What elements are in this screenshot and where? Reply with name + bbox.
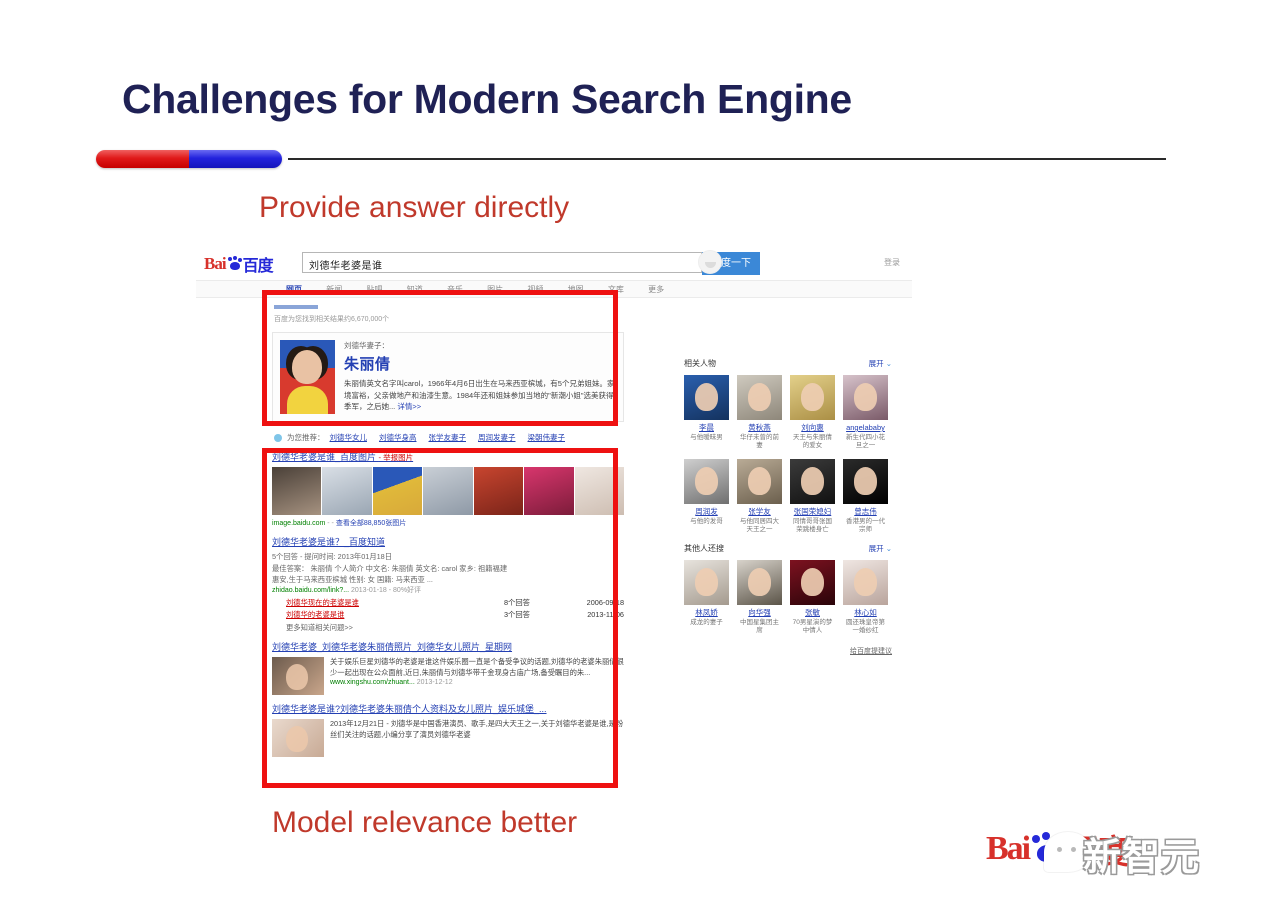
- tab-news[interactable]: 新闻: [326, 281, 342, 298]
- person-card[interactable]: 张国荣媳妇 同情哥哥张国荣跳楼身亡: [790, 459, 835, 535]
- person-card[interactable]: 刘向惠 天王与朱丽倩的爱女: [790, 375, 835, 451]
- person-photo: [684, 459, 729, 504]
- result-title-yule[interactable]: 刘德华老婆是谁?刘德华老婆朱丽倩个人资料及女儿照片_娱乐城堡_...: [272, 704, 624, 716]
- people-row-1: 李晨 与他暧昧男 黄秋燕 华仔未曾的前妻 刘向惠 天王与朱丽倩的爱女 angel…: [684, 375, 892, 451]
- login-link[interactable]: 登录: [884, 257, 900, 268]
- person-name[interactable]: 刘向惠: [790, 423, 835, 432]
- person-name[interactable]: 张敏: [790, 608, 835, 617]
- person-name[interactable]: 曾志伟: [843, 507, 888, 516]
- zhidao-sublink-question-1[interactable]: 刘德华现在的老婆是谁: [272, 598, 504, 608]
- person-name[interactable]: angelababy: [843, 423, 888, 432]
- image-thumb-3[interactable]: [373, 467, 422, 515]
- search-result-yule: 刘德华老婆是谁?刘德华老婆朱丽倩个人资料及女儿照片_娱乐城堡_... 2013年…: [272, 704, 624, 757]
- sidebar-section-header-related-people: 相关人物 展开 ⌄: [684, 358, 892, 369]
- person-photo: [684, 560, 729, 605]
- result-url-images-host[interactable]: image.baidu.com: [272, 520, 325, 527]
- baidu-logo[interactable]: Bai 百度: [204, 254, 294, 274]
- related-search-link-2[interactable]: 刘德华身高: [379, 432, 417, 443]
- person-name[interactable]: 李晨: [684, 423, 729, 432]
- zhidao-best-answer-line1: 最佳答案： 朱丽倩 个人简介 中文名: 朱丽倩 英文名: carol 家乡: 祖…: [272, 563, 624, 574]
- tab-zhidao[interactable]: 知道: [407, 281, 423, 298]
- person-name[interactable]: 张国荣媳妇: [790, 507, 835, 516]
- related-search-link-5[interactable]: 梁朝伟妻子: [528, 432, 566, 443]
- person-card[interactable]: 周润发 与他的发哥: [684, 459, 729, 535]
- tab-more[interactable]: 更多: [648, 281, 664, 298]
- search-result-zhidao: 刘德华老婆是谁？_百度知道 5个回答 - 提问时间: 2013年01月18日 最…: [272, 537, 624, 634]
- person-photo: [737, 459, 782, 504]
- person-photo: [843, 459, 888, 504]
- result-title-images[interactable]: 刘德华老婆是谁_百度图片 - 举报图片: [272, 452, 624, 464]
- zhidao-more-link[interactable]: 更多知道相关问题>>: [272, 623, 624, 633]
- feedback-link[interactable]: 给百度提建议: [684, 646, 892, 656]
- image-results-strip[interactable]: [272, 467, 624, 515]
- answer-label: 刘德华妻子：: [344, 340, 616, 351]
- caption-provide-answer: Provide answer directly: [259, 191, 569, 225]
- result-url-zhidao-host[interactable]: zhidao.baidu.com/link?...: [272, 587, 349, 594]
- related-search-link-4[interactable]: 周润发妻子: [478, 432, 516, 443]
- person-name[interactable]: 林心如: [843, 608, 888, 617]
- sidebar-section-title-1: 相关人物: [684, 358, 716, 369]
- result-body-yule: 2013年12月21日 - 刘德华是中国香港演员、歌手,是四大天王之一,关于刘德…: [272, 719, 624, 757]
- serp-nav-tabs: 网页 新闻 贴吧 知道 音乐 图片 视频 地图 文库 更多: [196, 281, 912, 298]
- zhidao-sublink-count-1: 8个回答: [504, 598, 560, 608]
- result-url-zhidao: zhidao.baidu.com/link?... 2013-01-18 - 8…: [272, 585, 624, 595]
- result-thumbnail-yule: [272, 719, 324, 757]
- person-desc: 圆还珠皇帝第一婚纱红: [843, 619, 888, 636]
- chevron-down-icon: ⌄: [886, 359, 892, 368]
- chevron-down-icon: ⌄: [886, 544, 892, 553]
- tab-webpage[interactable]: 网页: [286, 281, 302, 298]
- answer-more-link[interactable]: 详情>>: [397, 402, 421, 411]
- result-thumbnail-xingshu: [272, 657, 324, 695]
- person-name[interactable]: 林凤娇: [684, 608, 729, 617]
- person-photo: [684, 375, 729, 420]
- answer-name[interactable]: 朱丽倩: [344, 353, 616, 374]
- image-thumb-7[interactable]: [575, 467, 624, 515]
- footer-logo-latin: Bai: [986, 830, 1029, 868]
- person-card[interactable]: 向华强 中国星集团主席: [737, 560, 782, 636]
- result-rating-zhidao: - 80%好评: [389, 587, 421, 594]
- tab-video[interactable]: 视频: [527, 281, 543, 298]
- sidebar-section-title-3: 其他人还搜: [684, 543, 724, 554]
- related-searches-label: 为您推荐：: [287, 432, 325, 443]
- image-thumb-5[interactable]: [474, 467, 523, 515]
- person-desc: 70男星演的梦中情人: [790, 619, 835, 636]
- related-search-link-3[interactable]: 张学友妻子: [429, 432, 467, 443]
- divider-line: [288, 158, 1166, 160]
- zhidao-sublinks: 刘德华现在的老婆是谁 8个回答 2006-09-18 刘德华的老婆是谁 3个回答…: [272, 598, 624, 633]
- search-result-xingshu: 刘德华老婆_刘德华老婆朱丽倩照片_刘德华女儿照片_星期网 关于娱乐巨星刘德华的老…: [272, 642, 624, 695]
- result-title-xingshu[interactable]: 刘德华老婆_刘德华老婆朱丽倩照片_刘德华女儿照片_星期网: [272, 642, 624, 654]
- result-count: 百度为您找到相关结果约6,670,000个: [274, 314, 624, 324]
- result-snippet-yule: 2013年12月21日 - 刘德华是中国香港演员、歌手,是四大天王之一,关于刘德…: [330, 719, 624, 757]
- result-body-xingshu: 关于娱乐巨星刘德华的老婆是谁这件娱乐圈一直是个备受争议的话题,刘德华的老婆朱丽倩…: [272, 657, 624, 695]
- result-date-xingshu: 2013-12-12: [417, 679, 453, 686]
- person-desc: 天王与朱丽倩的爱女: [790, 434, 835, 451]
- related-searches-row: 为您推荐： 刘德华女儿 刘德华身高 张学友妻子 周润发妻子 梁朝伟妻子: [274, 432, 624, 443]
- expand-label-1: 展开: [869, 359, 884, 368]
- expand-toggle-3[interactable]: 展开 ⌄: [869, 543, 892, 554]
- image-thumb-1[interactable]: [272, 467, 321, 515]
- person-photo: [737, 560, 782, 605]
- serp-header: Bai 百度 刘德华老婆是谁 百度一下 登录: [196, 246, 912, 281]
- divider-pill-blue: [189, 150, 282, 168]
- result-title-images-text: 刘德华老婆是谁_百度图片: [272, 452, 376, 462]
- baidu-paw-icon: [227, 256, 242, 272]
- person-name[interactable]: 周润发: [684, 507, 729, 516]
- expand-toggle-1[interactable]: 展开 ⌄: [869, 358, 892, 369]
- answer-description-text: 朱丽倩英文名字叫carol，1966年4月6日出生在马来西亚槟城，有5个兄弟姐妹…: [344, 379, 614, 411]
- person-desc: 中国星集团主席: [737, 619, 782, 636]
- avatar[interactable]: [698, 250, 722, 274]
- search-input-value: 刘德华老婆是谁: [309, 257, 383, 272]
- serp-sidebar: 相关人物 展开 ⌄ 李晨 与他暧昧男 黄秋燕 华仔未曾的前妻: [684, 358, 892, 656]
- image-thumb-4[interactable]: [423, 467, 472, 515]
- image-thumb-2[interactable]: [322, 467, 371, 515]
- tab-map[interactable]: 地图: [568, 281, 584, 298]
- person-photo: [790, 560, 835, 605]
- person-desc: 新生代四小花旦之一: [843, 434, 888, 451]
- answer-text-block: 刘德华妻子： 朱丽倩 朱丽倩英文名字叫carol，1966年4月6日出生在马来西…: [344, 340, 616, 414]
- tab-music[interactable]: 音乐: [447, 281, 463, 298]
- person-desc: 华仔未曾的前妻: [737, 434, 782, 451]
- tab-wenku[interactable]: 文库: [608, 281, 624, 298]
- zhidao-best-answer-line2: 惠安,生于马来西亚槟城 性别: 女 国籍: 马来西亚 ...: [272, 574, 624, 585]
- zhidao-sublink-row: 刘德华现在的老婆是谁 8个回答 2006-09-18: [272, 598, 624, 608]
- person-desc: 与他同居四大天王之一: [737, 518, 782, 535]
- person-desc: 香港男的一代宗师: [843, 518, 888, 535]
- report-image-link[interactable]: - 举报图片: [379, 453, 414, 462]
- result-date-zhidao: 2013-01-18: [351, 587, 387, 594]
- result-url-xingshu-host[interactable]: www.xingshu.com/zhuant...: [330, 679, 415, 686]
- caption-model-relevance: Model relevance better: [272, 806, 577, 840]
- tab-tieba[interactable]: 贴吧: [366, 281, 382, 298]
- expand-label-3: 展开: [869, 544, 884, 553]
- person-card[interactable]: 张敏 70男星演的梦中情人: [790, 560, 835, 636]
- people-row-3: 林凤娇 成龙的妻子 向华强 中国星集团主席 张敏 70男星演的梦中情人 林心如 …: [684, 560, 892, 636]
- search-result-images: 刘德华老婆是谁_百度图片 - 举报图片 image.baidu.com - - …: [272, 452, 624, 528]
- zhidao-sublink-count-2: 3个回答: [504, 610, 560, 620]
- person-photo: [843, 375, 888, 420]
- view-all-images-link[interactable]: 查看全部88,850张图片: [336, 520, 406, 527]
- zhidao-sublink-date-2: 2013-11-06: [560, 610, 624, 619]
- baidu-serp-screenshot: Bai 百度 刘德华老婆是谁 百度一下 登录 网页 新闻 贴吧 知道 音乐 图片…: [196, 246, 912, 806]
- serp-results-column: 百度为您找到相关结果约6,670,000个 刘德华妻子： 朱丽倩 朱丽倩英文名字…: [272, 302, 624, 766]
- person-desc: 同情哥哥张国荣跳楼身亡: [790, 518, 835, 535]
- person-photo: [843, 560, 888, 605]
- zhidao-sublink-row: 刘德华的老婆是谁 3个回答 2013-11-06: [272, 610, 624, 620]
- person-desc: 与他暧昧男: [684, 434, 729, 442]
- divider-pill-red: [96, 150, 189, 168]
- person-desc: 与他的发哥: [684, 518, 729, 526]
- image-thumb-6[interactable]: [524, 467, 573, 515]
- person-card[interactable]: 张学友 与他同居四大天王之一: [737, 459, 782, 535]
- result-url-images-meta: - -: [327, 520, 334, 527]
- zhidao-sublink-date-1: 2006-09-18: [560, 598, 624, 607]
- person-photo: [790, 459, 835, 504]
- person-photo: [737, 375, 782, 420]
- answer-person-photo: [280, 340, 335, 414]
- zhidao-meta: 5个回答 - 提问时间: 2013年01月18日: [272, 551, 624, 562]
- watermark-label: 新智元: [1083, 826, 1200, 881]
- person-card[interactable]: 李晨 与他暧昧男: [684, 375, 729, 451]
- sidebar-section-header-others-searched: 其他人还搜 展开 ⌄: [684, 543, 892, 554]
- title-divider: [96, 150, 1166, 168]
- zhidao-sublink-question-2[interactable]: 刘德华的老婆是谁: [272, 610, 504, 620]
- people-row-2: 周润发 与他的发哥 张学友 与他同居四大天王之一 张国荣媳妇 同情哥哥张国荣跳楼…: [684, 459, 892, 535]
- active-tab-underline: [274, 305, 318, 309]
- person-desc: 成龙的妻子: [684, 619, 729, 627]
- search-input[interactable]: 刘德华老婆是谁: [302, 252, 702, 273]
- direct-answer-card: 刘德华妻子： 朱丽倩 朱丽倩英文名字叫carol，1966年4月6日出生在马来西…: [272, 332, 624, 422]
- globe-icon: [274, 434, 282, 442]
- person-name[interactable]: 向华强: [737, 608, 782, 617]
- result-url-xingshu: www.xingshu.com/zhuant... 2013-12-12: [330, 679, 624, 686]
- result-snippet-xingshu: 关于娱乐巨星刘德华的老婆是谁这件娱乐圈一直是个备受争议的话题,刘德华的老婆朱丽倩…: [330, 657, 624, 679]
- person-card[interactable]: 林心如 圆还珠皇帝第一婚纱红: [843, 560, 888, 636]
- person-photo: [790, 375, 835, 420]
- person-card[interactable]: angelababy 新生代四小花旦之一: [843, 375, 888, 451]
- person-name[interactable]: 黄秋燕: [737, 423, 782, 432]
- baidu-logo-latin: Bai: [204, 254, 226, 274]
- answer-description: 朱丽倩英文名字叫carol，1966年4月6日出生在马来西亚槟城，有5个兄弟姐妹…: [344, 378, 616, 413]
- result-url-images: image.baidu.com - - 查看全部88,850张图片: [272, 518, 624, 528]
- person-card[interactable]: 黄秋燕 华仔未曾的前妻: [737, 375, 782, 451]
- person-card[interactable]: 曾志伟 香港男的一代宗师: [843, 459, 888, 535]
- person-card[interactable]: 林凤娇 成龙的妻子: [684, 560, 729, 636]
- tab-images[interactable]: 图片: [487, 281, 503, 298]
- baidu-logo-cn: 百度: [243, 252, 273, 276]
- divider-pill: [96, 150, 282, 168]
- page-title: Challenges for Modern Search Engine: [122, 76, 852, 123]
- result-title-zhidao[interactable]: 刘德华老婆是谁？_百度知道: [272, 537, 624, 549]
- related-search-link-1[interactable]: 刘德华女儿: [330, 432, 368, 443]
- person-name[interactable]: 张学友: [737, 507, 782, 516]
